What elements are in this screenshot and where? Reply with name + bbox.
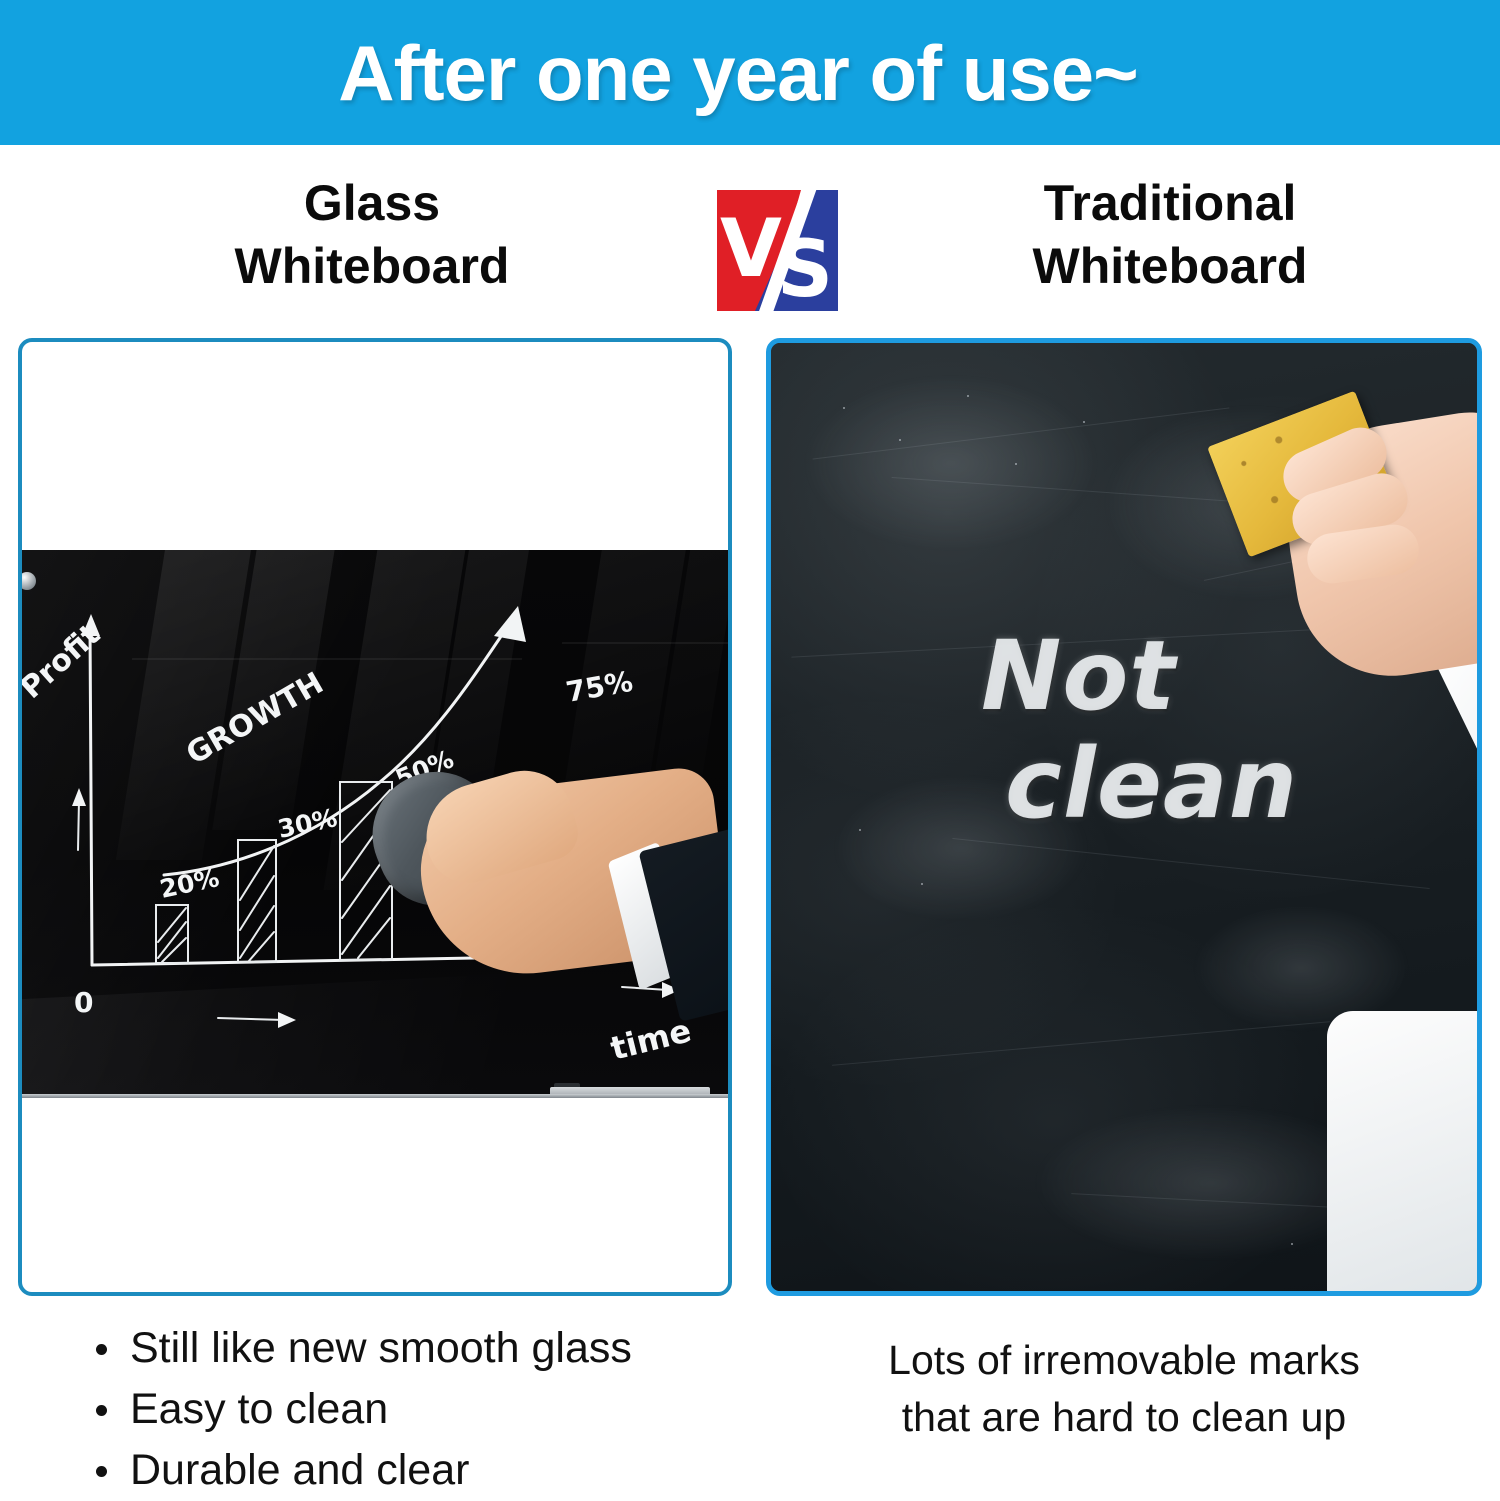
traditional-chalkboard-photo: Not clean bbox=[771, 343, 1477, 1291]
chart-ylabel: Profit bbox=[22, 617, 107, 706]
bullet-dot-icon bbox=[96, 1466, 107, 1477]
chalk-speck bbox=[967, 395, 969, 397]
right-heading-line2: Whiteboard bbox=[890, 235, 1450, 298]
glass-whiteboard-photo: Profit 0 time GROWTH 20% 30% 50% 75% bbox=[22, 550, 728, 1098]
right-heading-line1: Traditional bbox=[890, 172, 1450, 235]
chalk-speck bbox=[859, 829, 861, 831]
right-product-panel: Not clean bbox=[766, 338, 1482, 1296]
benefits-list: Still like new smooth glass Easy to clea… bbox=[84, 1318, 734, 1501]
banner-title: After one year of use~ bbox=[338, 34, 1137, 112]
list-item-label: Easy to clean bbox=[130, 1385, 388, 1433]
list-item: Durable and clear bbox=[84, 1440, 734, 1501]
header-banner: After one year of use~ bbox=[0, 0, 1500, 145]
chalk-text-line2: clean bbox=[1005, 731, 1298, 839]
right-drawback-caption: Lots of irremovable marks that are hard … bbox=[766, 1332, 1482, 1445]
chalk-speck bbox=[1291, 1243, 1293, 1245]
bullet-dot-icon bbox=[96, 1344, 107, 1355]
vs-right-letter: S bbox=[777, 225, 833, 315]
bullet-dot-icon bbox=[96, 1405, 107, 1416]
left-heading-line2: Whiteboard bbox=[92, 235, 652, 298]
chalk-speck bbox=[921, 883, 923, 885]
chart-origin-label: 0 bbox=[74, 986, 93, 1019]
board-scratch bbox=[832, 1021, 1330, 1066]
vs-badge-icon: V S bbox=[705, 178, 850, 323]
chart-arrow-label: 75% bbox=[563, 665, 635, 709]
chalk-speck bbox=[899, 439, 901, 441]
chart-bar-label-2: 30% bbox=[275, 803, 340, 844]
chalk-speck bbox=[1015, 463, 1017, 465]
chalk-text-line1: Not bbox=[981, 620, 1176, 732]
chart-bar-1 bbox=[156, 905, 188, 963]
chart-curve-label: GROWTH bbox=[181, 666, 330, 772]
list-item: Easy to clean bbox=[84, 1379, 734, 1440]
left-benefits-caption: Still like new smooth glass Easy to clea… bbox=[84, 1318, 734, 1501]
vs-left-letter: V bbox=[720, 202, 782, 295]
right-column-heading: Traditional Whiteboard bbox=[890, 172, 1450, 297]
chalk-speck bbox=[1083, 421, 1085, 423]
list-item-label: Still like new smooth glass bbox=[130, 1324, 632, 1372]
list-item: Still like new smooth glass bbox=[84, 1318, 734, 1379]
left-column-heading: Glass Whiteboard bbox=[92, 172, 652, 297]
chalk-speck bbox=[843, 407, 845, 409]
chalk-smudge bbox=[801, 373, 1101, 553]
chart-bar-label-1: 20% bbox=[157, 863, 222, 904]
list-item-label: Durable and clear bbox=[130, 1446, 469, 1494]
right-caption-line2: that are hard to clean up bbox=[766, 1389, 1482, 1446]
person-shoulder bbox=[1327, 1011, 1477, 1291]
left-heading-line1: Glass bbox=[92, 172, 652, 235]
left-product-panel: Profit 0 time GROWTH 20% 30% 50% 75% bbox=[18, 338, 732, 1296]
right-caption-line1: Lots of irremovable marks bbox=[766, 1332, 1482, 1389]
board-bottom-edge bbox=[22, 1094, 728, 1098]
chalkboard-handwriting: Not clean bbox=[981, 623, 1298, 838]
